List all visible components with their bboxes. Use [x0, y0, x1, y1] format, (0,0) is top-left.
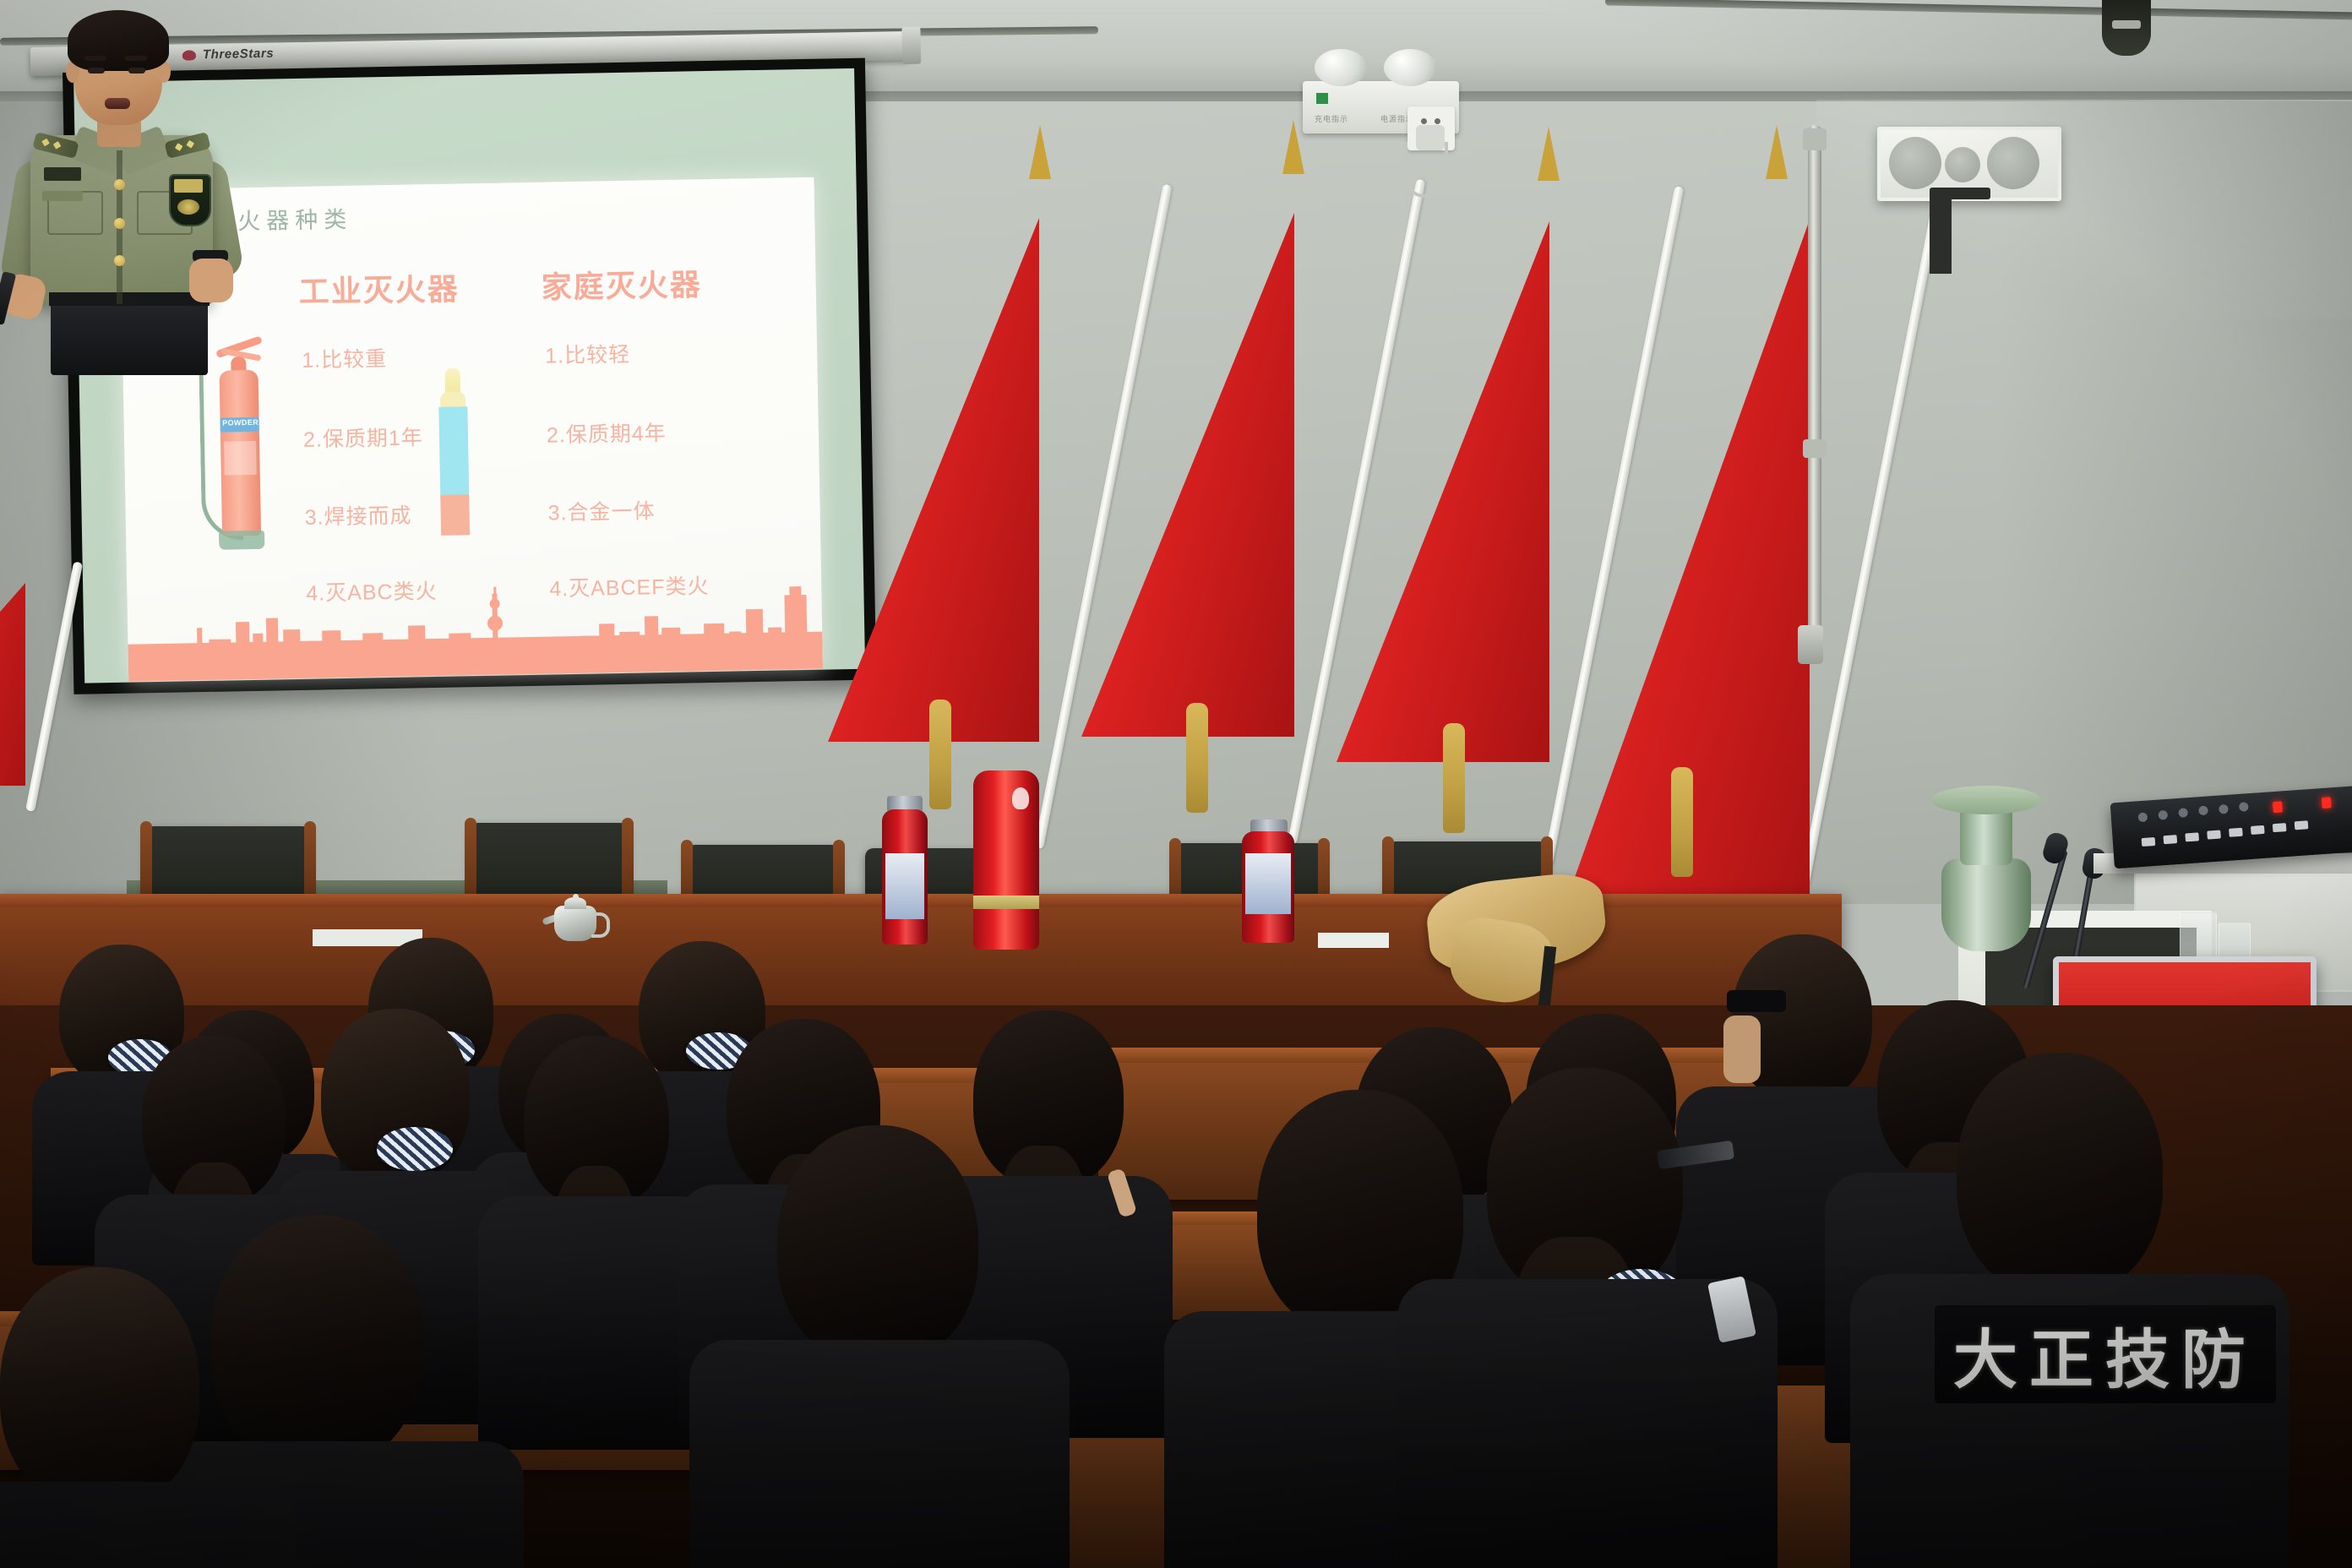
flag-tassel	[1443, 723, 1465, 833]
training-room-photo: ThreeStars 灭火器种类 POWDER	[0, 0, 2352, 1568]
emergency-lamp-head-right	[1384, 49, 1436, 86]
teapot-body	[554, 906, 596, 941]
presenter-trousers	[51, 297, 208, 375]
presenter-hair	[68, 10, 169, 71]
flag-tassel	[1671, 767, 1693, 877]
eyeglasses-icon	[1727, 990, 1786, 1012]
pearl-tower-sphere-lower	[487, 616, 503, 631]
extinguisher-label	[1245, 853, 1291, 914]
projector-screen-brand: ThreeStars	[203, 46, 275, 63]
extinguisher-icon-large[interactable]	[973, 770, 1039, 950]
extinguisher-cylinder	[973, 770, 1039, 950]
name-tag-text	[42, 191, 83, 201]
home-extinguisher-icon	[434, 367, 475, 546]
pipe-valve	[1798, 625, 1823, 664]
jacket-back-text: 大正技防	[1953, 1308, 2257, 1401]
slide-column-2-bullet-3: 3.合金一体	[547, 494, 655, 526]
sleeve-patch-text-band	[174, 179, 203, 193]
flag-tassel	[1186, 703, 1208, 813]
three-stars-logo-icon	[182, 50, 196, 60]
presenter-eyebrow-left	[84, 56, 106, 61]
presenter-right-hand	[189, 259, 233, 302]
presenter-mouth	[105, 98, 130, 109]
paper-icon	[1318, 933, 1389, 948]
flag-spear-finial	[1766, 125, 1788, 179]
speaker-bracket	[1930, 193, 1952, 274]
mixer-led-2	[2322, 797, 2332, 808]
presenter-button-2	[114, 218, 125, 229]
presenter-button-1	[114, 179, 125, 190]
slide-column-1-bullet-3: 3.焊接而成	[304, 499, 411, 531]
power-cord	[1404, 142, 1448, 198]
extinguisher-spec-label	[224, 441, 257, 476]
pipe-clamp-top	[1803, 128, 1827, 150]
vase-mouth	[1931, 786, 2041, 814]
slide-column-2-bullet-1: 1.比较轻	[545, 338, 631, 370]
red-flag-partial	[0, 583, 25, 786]
emergency-light-led	[1316, 93, 1328, 104]
presenter-belt	[49, 292, 210, 306]
vase-icon	[1931, 786, 2041, 955]
extinguisher-icon-second[interactable]	[1242, 831, 1294, 943]
speaker-driver-right	[1987, 137, 2039, 189]
flag-spear-finial	[1282, 120, 1304, 174]
mixer-led	[2273, 801, 2283, 813]
teapot-handle	[591, 912, 610, 938]
slide-column-2-heading: 家庭灭火器	[541, 260, 702, 307]
teapot-knob	[573, 894, 579, 900]
extinguisher-base	[219, 531, 264, 550]
home-extinguisher-base	[440, 494, 470, 536]
hair-scrunchie	[377, 1127, 453, 1171]
pearl-tower-spire	[493, 587, 496, 601]
wall-pipe-icon	[1808, 125, 1821, 649]
slide-column-1-heading: 工业灭火器	[298, 264, 460, 311]
flag-spear-finial	[1029, 125, 1051, 179]
slide-column-1-bullet-2: 2.保质期1年	[303, 421, 423, 454]
sleeve-patch-emblem	[177, 199, 199, 215]
screen-housing-end-cap	[901, 27, 921, 64]
teapot-icon[interactable]	[542, 894, 608, 946]
extinguisher-ring	[973, 896, 1039, 909]
powder-band-label: POWDER	[222, 418, 259, 427]
home-extinguisher-body	[438, 406, 469, 497]
vase-body	[1941, 858, 2031, 951]
pipe-clamp-bottom	[1803, 439, 1827, 458]
presenter-eye-right	[128, 68, 145, 73]
city-skyline-silhouette	[127, 574, 823, 682]
jacket-back-patch: 大正技防	[1935, 1305, 2276, 1403]
extinguisher-tag	[1012, 787, 1029, 809]
wall-shadow-right	[1997, 101, 2352, 904]
industrial-extinguisher-icon: POWDER	[196, 323, 273, 561]
name-tag	[44, 167, 81, 181]
presenter-button-3	[114, 255, 125, 266]
flag-spear-finial	[1538, 127, 1560, 181]
presenter-eye-left	[88, 68, 105, 73]
extinguisher-icon-slim[interactable]	[882, 809, 928, 945]
audience-face-profile	[1723, 1015, 1761, 1083]
ceiling-camera-lens	[2112, 20, 2141, 29]
speaker-driver-center	[1945, 147, 1980, 182]
slide-column-1-bullet-1: 1.比较重	[302, 342, 388, 374]
flag-tassel	[929, 700, 951, 809]
slide-column-2-bullet-2: 2.保质期4年	[547, 416, 667, 449]
emergency-lamp-head-left	[1315, 49, 1367, 86]
speaker-driver-left	[1889, 137, 1941, 189]
emergency-light-label-left: 充电指示	[1315, 113, 1348, 124]
extinguisher-label	[885, 853, 924, 919]
presenter-eyebrow-right	[125, 56, 147, 61]
